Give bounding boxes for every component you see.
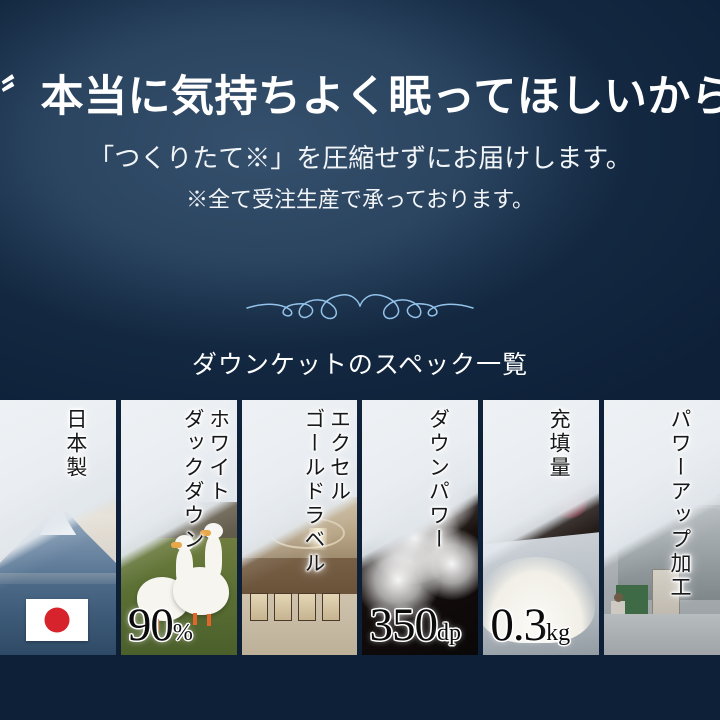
spec-panel-list: 日本製 ホワイトダックダウン 90%	[0, 400, 720, 655]
headline-text: 本当に気持ちよく眠ってほしいから	[41, 74, 720, 121]
japan-flag-icon	[26, 599, 88, 641]
spec-panel-down-power[interactable]: ダウンパワー 350dp	[362, 400, 478, 655]
open-quote-mark: 〝	[0, 63, 41, 121]
subtitle-block: 「つくりたて※」を圧縮せずにお届けします。 ※全て受注生産で承っております。	[0, 141, 720, 217]
subtitle-line-1: 「つくりたて※」を圧縮せずにお届けします。	[0, 141, 720, 177]
spec-value-fill-weight: 0.3kg	[490, 602, 570, 649]
spec-panel-white-duck-down[interactable]: ホワイトダックダウン 90%	[121, 400, 237, 655]
spec-label-excel-gold-label: エクセルゴールドラベル	[300, 408, 351, 648]
panel-haze-overlay	[604, 400, 720, 655]
page-title: 〝本当に気持ちよく眠ってほしいから〟	[0, 62, 720, 124]
spec-panel-excel-gold-label[interactable]: エクセルゴールドラベル G	[242, 400, 358, 655]
spec-value-white-duck-down: 90%	[128, 602, 193, 649]
spec-label-power-up-processing: パワーアップ加工	[666, 408, 692, 648]
spec-section-heading: ダウンケットのスペック一覧	[0, 345, 720, 381]
promo-banner: 〝本当に気持ちよく眠ってほしいから〟 「つくりたて※」を圧縮せずにお届けします。…	[0, 0, 720, 720]
spec-panel-fill-weight[interactable]: 充填量 0.3kg	[483, 400, 599, 655]
subtitle-line-2: ※全て受注生産で承っております。	[0, 183, 720, 217]
spec-value-down-power: 350dp	[369, 602, 461, 649]
spec-panel-made-in-japan[interactable]: 日本製	[0, 400, 116, 655]
spec-panel-power-up-processing[interactable]: パワーアップ加工	[604, 400, 720, 655]
flourish-divider-icon	[245, 282, 475, 328]
